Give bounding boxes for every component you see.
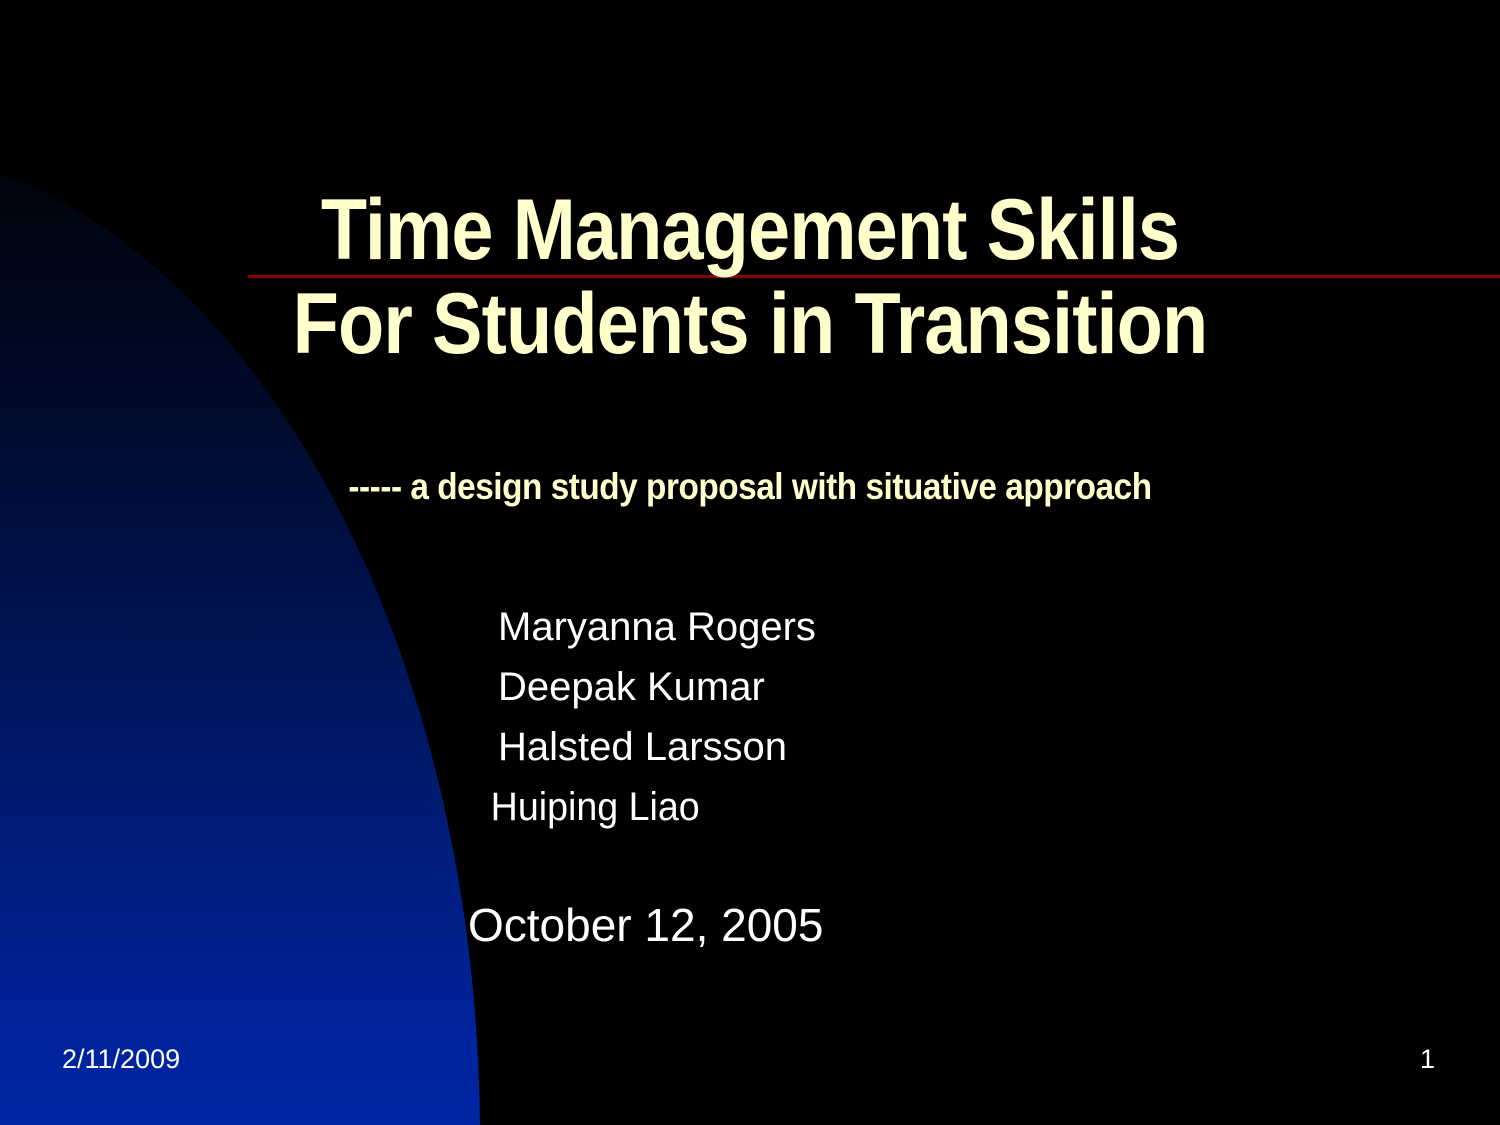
presentation-slide: Time Management Skills For Students in T… — [0, 0, 1500, 1125]
slide-page-number: 1 — [1420, 1043, 1460, 1075]
author-name: Huiping Liao — [470, 777, 1128, 837]
author-name: Maryanna Rogers — [470, 597, 1170, 657]
presentation-date: October 12, 2005 — [468, 897, 823, 953]
title-line-1: Time Management Skills — [90, 183, 1410, 277]
author-name: Halsted Larsson — [470, 717, 1170, 777]
title-line-2: For Students in Transition — [90, 277, 1410, 371]
author-list: Maryanna Rogers Deepak Kumar Halsted Lar… — [470, 597, 1170, 837]
footer-date: 2/11/2009 — [62, 1043, 180, 1075]
slide-title: Time Management Skills For Students in T… — [90, 183, 1410, 371]
author-name: Deepak Kumar — [470, 657, 1170, 717]
slide-subtitle: ----- a design study proposal with situa… — [75, 465, 1425, 509]
